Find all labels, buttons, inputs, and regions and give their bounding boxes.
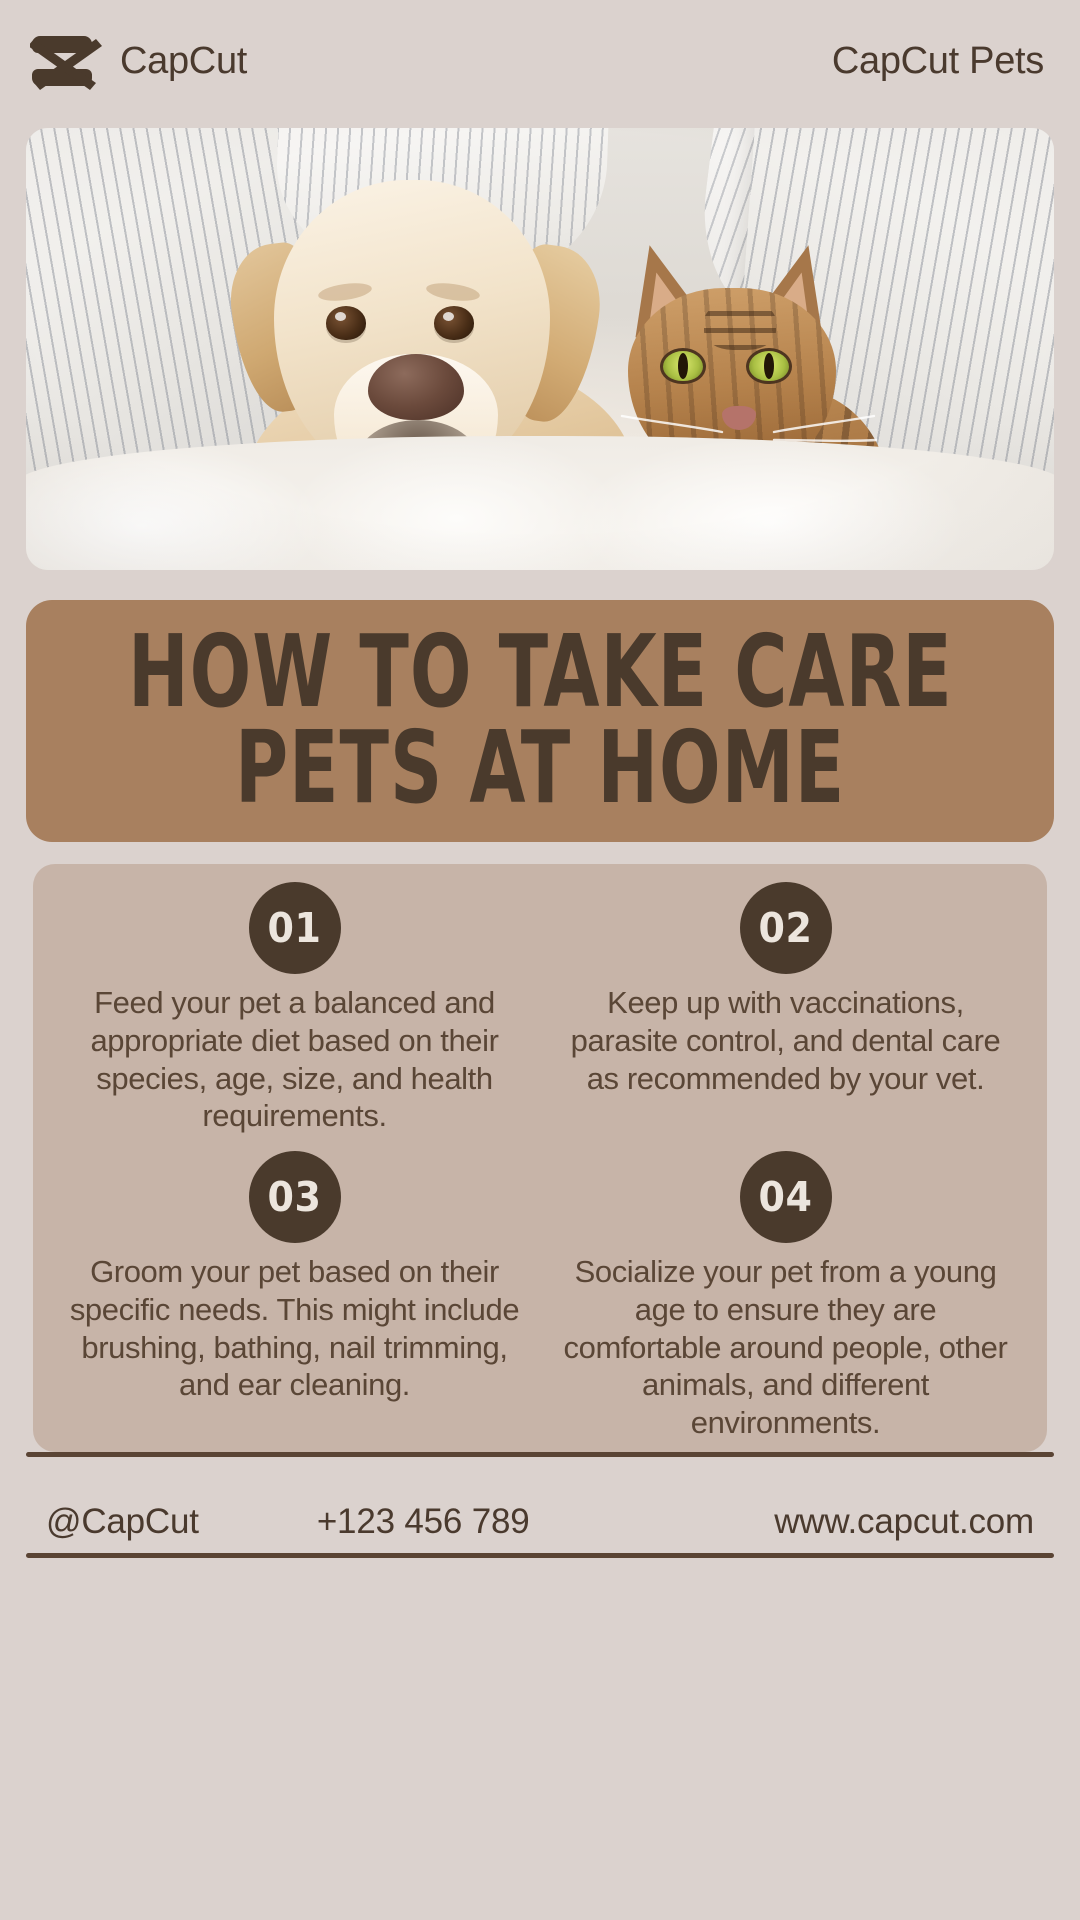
tip-number-badge: 01 bbox=[249, 882, 341, 974]
hero-photo bbox=[26, 128, 1054, 570]
cat-eye-left bbox=[660, 348, 706, 384]
title-banner: HOW TO TAKE CARE PETS AT HOME bbox=[26, 600, 1054, 842]
tip-number: 01 bbox=[268, 904, 322, 952]
tip-text: Feed your pet a balanced and appropriate… bbox=[63, 984, 526, 1135]
footer-divider-top bbox=[26, 1452, 1054, 1457]
header-tagline: CapCut Pets bbox=[832, 40, 1044, 83]
brand[interactable]: CapCut bbox=[30, 30, 247, 92]
brand-name: CapCut bbox=[120, 40, 247, 83]
cat-eye-right bbox=[746, 348, 792, 384]
tip-number: 02 bbox=[759, 904, 813, 952]
page-footer: @CapCut +123 456 789 www.capcut.com bbox=[0, 1462, 1080, 1582]
tips-card: 01 Feed your pet a balanced and appropri… bbox=[33, 864, 1047, 1452]
tips-grid: 01 Feed your pet a balanced and appropri… bbox=[49, 882, 1031, 1442]
tip-number-badge: 04 bbox=[740, 1151, 832, 1243]
tip-item-04: 04 Socialize your pet from a young age t… bbox=[540, 1151, 1031, 1442]
dog-eye-right bbox=[434, 306, 474, 340]
tip-item-02: 02 Keep up with vaccinations, parasite c… bbox=[540, 882, 1031, 1151]
footer-handle[interactable]: @CapCut bbox=[46, 1502, 199, 1542]
tip-number: 04 bbox=[759, 1173, 813, 1221]
tip-text: Socialize your pet from a young age to e… bbox=[554, 1253, 1017, 1442]
cat-forehead-markings bbox=[704, 302, 776, 350]
dog-eye-left bbox=[326, 306, 366, 340]
tip-number: 03 bbox=[268, 1173, 322, 1221]
white-fur-bedding bbox=[26, 436, 1054, 570]
page-header: CapCut CapCut Pets bbox=[0, 0, 1080, 122]
tip-number-badge: 03 bbox=[249, 1151, 341, 1243]
footer-divider-bottom bbox=[26, 1553, 1054, 1558]
capcut-logo-icon bbox=[30, 30, 102, 92]
tip-item-01: 01 Feed your pet a balanced and appropri… bbox=[49, 882, 540, 1151]
title-line-1: HOW TO TAKE CARE bbox=[128, 624, 953, 722]
footer-website[interactable]: www.capcut.com bbox=[774, 1502, 1034, 1542]
tip-text: Groom your pet based on their specific n… bbox=[63, 1253, 526, 1404]
tip-text: Keep up with vaccinations, parasite cont… bbox=[554, 984, 1017, 1097]
tip-number-badge: 02 bbox=[740, 882, 832, 974]
footer-phone[interactable]: +123 456 789 bbox=[317, 1502, 530, 1542]
photo-scene bbox=[26, 128, 1054, 570]
dog-nose bbox=[368, 354, 464, 420]
tip-item-03: 03 Groom your pet based on their specifi… bbox=[49, 1151, 540, 1442]
title-line-2: PETS AT HOME bbox=[235, 720, 845, 818]
